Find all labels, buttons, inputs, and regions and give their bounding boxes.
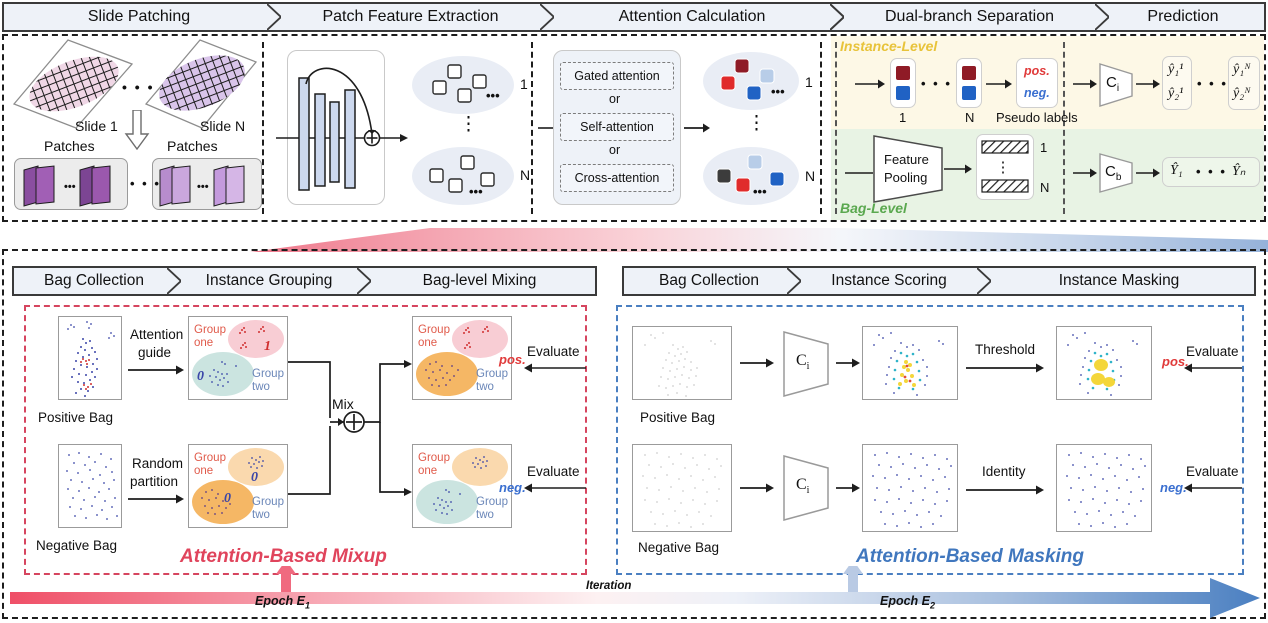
arrow-to-pseudo-labels [986,78,1012,90]
patches-caption-2: Patches [167,138,218,154]
masking-evaluate-neg-arrow [1184,482,1242,494]
svg-text:•••: ••• [486,88,500,103]
feature-bag-1-items: ••• [412,56,514,114]
masking-evaluate-pos-label: Evaluate [1186,344,1239,359]
masking-stage-instance-masking[interactable]: Instance Masking [984,268,1254,294]
masking-stage-instance-scoring[interactable]: Instance Scoring [794,268,984,294]
attention-bag-1-index: 1 [805,74,813,90]
group-one-oval-pos: 1 [228,320,284,358]
bag-classifier-label: Cb [1105,163,1121,183]
feature-bag-1-index: 1 [520,76,528,92]
ribbon-stage-label: Slide Patching [88,8,190,26]
feature-pooling-block [872,134,944,204]
masking-classifier-pos-label: Ci [796,352,809,372]
group-two-oval-pos: 0 [192,352,254,396]
arrow-bag-classifier-to-outputs [1136,167,1160,179]
divider-top-right-edge [835,42,837,214]
mixup-stage-instance-grouping[interactable]: Instance Grouping [174,268,364,294]
group-two-oval-neg: 0 [192,480,254,524]
feature-bags-vertical-ellipsis: ⋮ [459,113,478,136]
result-group-one-label-pos-2: one [418,337,437,349]
epoch-2-subscript: 2 [930,601,935,611]
masking-scored-negative-image [862,444,958,532]
feature-bag-n-items: ••• [412,147,514,205]
arrow-random-partition [128,493,184,505]
slide-n-caption: Slide N [200,118,245,134]
svg-text:•••: ••• [753,184,767,199]
mixup-positive-bag-image [58,316,122,400]
divider-slide-feature [262,42,264,214]
attention-option-gated[interactable]: Gated attention [560,62,674,90]
masking-evaluate-neg-label: Evaluate [1186,464,1239,479]
patch-thumbnails-2: ••• [152,158,262,210]
ribbon-stage-prediction[interactable]: Prediction [1102,4,1264,30]
group-two-label-neg-2: two [252,509,270,521]
mixup-evaluate-pos-label: Evaluate [527,344,580,359]
result-group-one-label-neg-2: one [418,465,437,477]
masking-evaluate-pos-arrow [1184,362,1242,374]
result-group-two-label-neg-2: two [476,509,494,521]
attention-bags-vertical-ellipsis: ⋮ [747,112,766,135]
instance-output-n-top: ŷ₁ᴺ [1233,62,1251,78]
patches-ellipsis: • • • [130,176,161,191]
result-group-two-label-pos-1: Group [476,368,508,380]
svg-text:•••: ••• [64,181,76,193]
svg-text:•••: ••• [197,181,209,193]
attention-option-cross[interactable]: Cross-attention [560,164,674,192]
attention-guide-label-line1: Attention [130,327,183,342]
pseudo-label-neg: neg. [1024,86,1050,100]
slide-1-caption: Slide 1 [75,118,118,134]
ribbon-stage-patch-feature-extraction[interactable]: Patch Feature Extraction [274,4,547,30]
feature-pooling-label-line2: Pooling [884,170,927,185]
ribbon-stage-label: Patch Feature Extraction [322,8,498,26]
mixup-pipeline-ribbon: Bag Collection Instance Grouping Bag-lev… [12,266,597,296]
mixup-neg-label: neg. [499,480,526,495]
group-two-label-pos-1: Group [252,368,284,380]
masking-stage-label: Instance Masking [1059,272,1180,290]
instance-output-1-bottom: ŷ₂¹ [1168,86,1183,102]
svg-text:•••: ••• [771,84,785,99]
mixup-negative-bag-image [58,444,122,528]
result-group-one-label-neg-1: Group [418,452,450,464]
bag-output-1: Ŷ₁ [1170,163,1183,179]
mixup-evaluate-pos-arrow [524,362,586,374]
instance-pair-n-items [956,58,982,108]
epoch-1-text: Epoch E [255,594,305,608]
instance-outputs-ellipsis: • • • [1197,76,1228,91]
masking-threshold-label: Threshold [975,342,1035,357]
masking-arrow-pos-to-classifier [740,357,774,369]
svg-text:0: 0 [251,470,258,485]
masking-masked-positive-image [1056,326,1152,400]
result-group-two-oval-neg [416,480,478,524]
masking-identity-arrow [966,484,1044,496]
masking-threshold-arrow [966,362,1044,374]
result-group-two-oval-pos [416,352,478,396]
result-group-two-label-pos-2: two [476,381,494,393]
arrow-pooling-to-features [944,163,972,175]
bag-outputs-ellipsis: • • • [1196,164,1227,179]
arrow-classifier-to-outputs [1136,78,1160,90]
masking-negative-bag-image [632,444,732,532]
attention-or-2: or [609,143,620,157]
classifier-letter: C [796,476,807,493]
svg-text:0: 0 [224,491,231,506]
masking-arrow-neg-to-classifier [740,482,774,494]
attention-bag-n-items: ••• [703,147,799,205]
top-pipeline-ribbon: Slide Patching Patch Feature Extraction … [2,2,1266,32]
instance-pair-1-items [890,58,916,108]
arrow-attention-to-bags [684,122,710,134]
masking-pipeline-ribbon: Bag Collection Instance Scoring Instance… [622,266,1256,296]
arrow-into-instance [855,78,885,90]
epoch-2-label: Epoch E2 [880,594,935,611]
masking-scored-positive-image [862,326,958,400]
pseudo-label-pos: pos. [1024,64,1050,78]
slides-ellipsis: • • • [122,79,154,95]
svg-text:1: 1 [264,339,271,354]
masking-stage-label: Bag Collection [659,272,759,290]
mixup-stage-bag-level-mixing[interactable]: Bag-level Mixing [364,268,595,294]
arrow-into-instance-classifier [1073,78,1097,90]
feature-bag-n-index: N [520,167,530,183]
masking-positive-bag-caption: Positive Bag [640,410,715,425]
result-group-one-label-pos-1: Group [418,324,450,336]
classifier-letter: C [1105,163,1116,180]
ribbon-stage-slide-patching[interactable]: Slide Patching [4,4,274,30]
masking-masked-negative-image [1056,444,1152,532]
instance-pair-1-index: 1 [899,110,906,125]
group-one-label-neg-2: one [194,465,213,477]
figure-root: Slide Patching Patch Feature Extraction … [0,0,1268,623]
classifier-subscript: i [807,485,810,496]
epoch-1-label: Epoch E1 [255,594,310,611]
epoch-timeline-arrow [10,566,1260,618]
masking-positive-bag-image [632,326,732,400]
cnn-graphics [276,50,408,205]
random-partition-label-line2: partition [130,474,178,489]
epoch-1-subscript: 1 [305,601,310,611]
divider-attention-dual [820,42,822,214]
slide-to-patch-arrow [124,110,150,150]
svg-text:•••: ••• [469,184,483,199]
group-two-label-pos-2: two [252,381,270,393]
instance-output-1-top: ŷ₁¹ [1168,62,1183,78]
classifier-subscript: i [1117,83,1119,94]
attention-guide-label-line2: guide [138,345,171,360]
masking-classifier-neg-label: Ci [796,476,809,496]
bag-feature-index-1: 1 [1040,140,1047,155]
classifier-subscript: i [807,361,810,372]
ribbon-stage-label: Attention Calculation [619,8,766,26]
feature-pooling-label-line1: Feature [884,152,929,167]
classifier-subscript: b [1116,172,1122,183]
svg-text:⋮: ⋮ [996,159,1011,176]
classifier-letter: C [796,352,807,369]
group-one-oval-neg: 0 [228,448,284,486]
pseudo-labels-caption: Pseudo labels [996,110,1078,125]
instance-level-label: Instance-Level [840,38,937,54]
bag-output-n: Ŷₙ [1232,163,1245,180]
group-one-label-pos-2: one [194,337,213,349]
masking-panel-title: Attention-Based Masking [856,546,1084,568]
masking-stage-label: Instance Scoring [831,272,946,290]
mixup-stage-label: Bag Collection [44,272,144,290]
ribbon-stage-attention-calculation[interactable]: Attention Calculation [547,4,837,30]
group-two-label-neg-1: Group [252,496,284,508]
random-partition-label-line1: Random [132,456,183,471]
ribbon-stage-dual-branch-separation[interactable]: Dual-branch Separation [837,4,1102,30]
bag-feature-index-n: N [1040,180,1049,195]
mixup-stage-bag-collection[interactable]: Bag Collection [14,268,174,294]
svg-text:0: 0 [197,369,204,384]
mixup-stage-label: Bag-level Mixing [423,272,537,290]
mixup-stage-label: Instance Grouping [206,272,333,290]
attention-bag-1-items: ••• [703,52,799,110]
attention-bag-n-index: N [805,168,815,184]
mixup-negative-bag-caption: Negative Bag [36,538,117,553]
divider-dual-prediction [1063,42,1065,214]
mixup-panel-title: Attention-Based Mixup [180,546,387,568]
result-group-two-label-neg-1: Group [476,496,508,508]
masking-arrow-classifier-to-score-neg [836,482,860,494]
masking-negative-bag-caption: Negative Bag [638,540,719,555]
instance-output-n-bottom: ŷ₂ᴺ [1233,86,1251,102]
arrow-into-bag-classifier [1073,167,1097,179]
classifier-letter: C [1106,74,1117,91]
patches-caption-1: Patches [44,138,95,154]
epoch-2-text: Epoch E [880,594,930,608]
ribbon-stage-label: Dual-branch Separation [885,8,1054,26]
divider-feature-attention [531,42,533,214]
mixup-pos-label: pos. [499,352,526,367]
mixup-positive-bag-caption: Positive Bag [38,410,113,425]
attention-or-1: or [609,92,620,106]
masking-arrow-classifier-to-score-pos [836,357,860,369]
mixup-evaluate-neg-arrow [524,482,586,494]
masking-neg-label: neg. [1160,480,1187,495]
mixup-evaluate-neg-label: Evaluate [527,464,580,479]
ribbon-stage-label: Prediction [1147,8,1218,26]
attention-option-self[interactable]: Self-attention [560,113,674,141]
instance-pairs-ellipsis: • • • [921,76,952,91]
instance-classifier-label: Ci [1106,74,1119,94]
bag-feature-bars: ⋮ [976,134,1034,200]
masking-identity-label: Identity [982,464,1026,479]
instance-pair-n-index: N [965,110,974,125]
arrow-attention-guide [128,364,184,376]
arrow-into-pooling [845,167,873,179]
group-one-label-pos-1: Group [194,324,226,336]
masking-stage-bag-collection[interactable]: Bag Collection [624,268,794,294]
group-one-label-neg-1: Group [194,452,226,464]
patch-thumbnails-1: ••• [14,158,128,210]
